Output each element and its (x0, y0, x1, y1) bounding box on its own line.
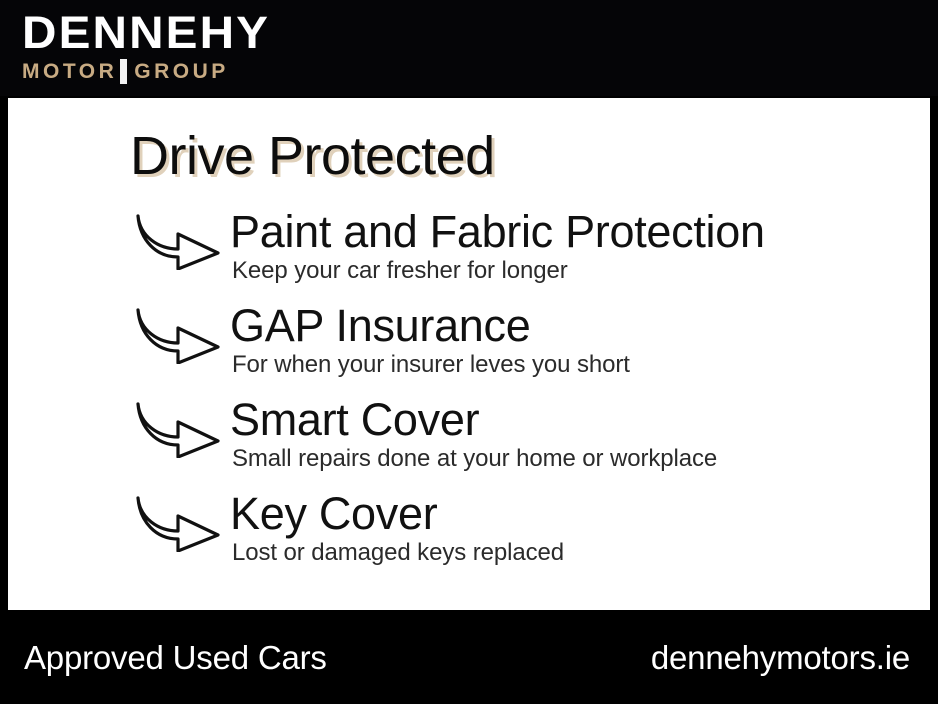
footer-approved-used-cars: Approved Used Cars (24, 638, 327, 678)
dennehy-motor-group-logo: DENNEHY MOTOR GROUP (22, 10, 256, 84)
promo-poster: DENNEHY MOTOR GROUP Drive Protected Pain… (0, 0, 938, 704)
list-item-subtitle: Lost or damaged keys replaced (232, 538, 564, 568)
header-bar: DENNEHY MOTOR GROUP (0, 0, 938, 96)
footer-bar: Approved Used Cars dennehymotors.ie (0, 612, 938, 704)
curved-arrow-right-icon (132, 306, 224, 364)
brand-tagline-group: GROUP (134, 61, 229, 83)
curved-arrow-right-icon (132, 400, 224, 458)
page-title: Drive Protected (130, 126, 495, 186)
brand-tagline: MOTOR GROUP (22, 59, 256, 84)
brand-name: DENNEHY (22, 10, 270, 56)
brand-tagline-motor: MOTOR (22, 61, 117, 83)
benefits-list: Paint and Fabric Protection Keep your ca… (8, 206, 930, 582)
list-item-subtitle: For when your insurer leves you short (232, 350, 630, 380)
list-item: GAP Insurance For when your insurer leve… (8, 300, 930, 394)
list-item-subtitle: Small repairs done at your home or workp… (232, 444, 717, 474)
list-item-title: GAP Insurance (230, 300, 530, 352)
list-item: Key Cover Lost or damaged keys replaced (8, 488, 930, 582)
list-item-title: Smart Cover (230, 394, 479, 446)
list-item-subtitle: Keep your car fresher for longer (232, 256, 568, 286)
list-item: Paint and Fabric Protection Keep your ca… (8, 206, 930, 300)
curved-arrow-right-icon (132, 494, 224, 552)
curved-arrow-right-icon (132, 212, 224, 270)
footer-website-url[interactable]: dennehymotors.ie (651, 638, 910, 678)
list-item-title: Paint and Fabric Protection (230, 206, 765, 258)
list-item: Smart Cover Small repairs done at your h… (8, 394, 930, 488)
list-item-title: Key Cover (230, 488, 437, 540)
content-panel: Drive Protected Paint and Fabric Protect… (8, 98, 930, 610)
logo-divider-bar-icon (120, 59, 127, 84)
